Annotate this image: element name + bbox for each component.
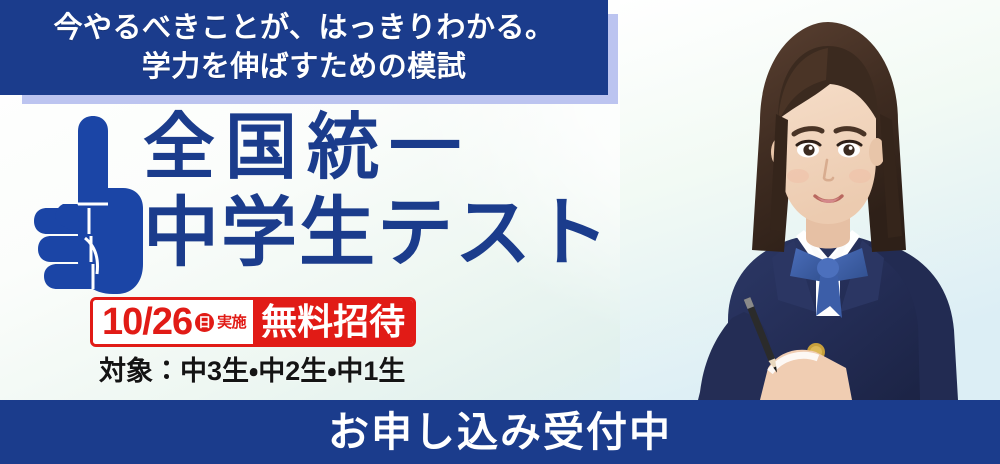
header-line-1: 今やるべきことが、はっきりわかる。 [54, 9, 555, 47]
target-audience: 対象：中3生・中2生・中1生 [99, 358, 405, 385]
badge-date-section: 10/26 日 実施 [93, 300, 253, 344]
badge-day-mark: 日 [195, 313, 214, 332]
badge-date: 10/26 [102, 303, 192, 341]
main-title: 全国統一 中学生テスト [143, 108, 683, 276]
title-line-2: 中学生テスト [143, 191, 683, 276]
badge-note: 実施 [217, 315, 246, 330]
header-line-2: 学力を伸ばすための模試 [142, 48, 467, 86]
promo-banner: 今やるべきことが、はっきりわかる。 学力を伸ばすための模試 全国統一 中学生テス… [0, 0, 1000, 464]
pointing-hand-icon [33, 112, 145, 298]
header-box: 今やるべきことが、はっきりわかる。 学力を伸ばすための模試 [0, 0, 608, 95]
date-offer-badge: 10/26 日 実施 無料招待 [90, 297, 416, 347]
title-line-1: 全国統一 [143, 108, 683, 189]
cta-bar[interactable]: お申し込み受付中 [0, 400, 1000, 464]
badge-offer: 無料招待 [253, 300, 413, 344]
cta-label: お申し込み受付中 [328, 412, 672, 453]
